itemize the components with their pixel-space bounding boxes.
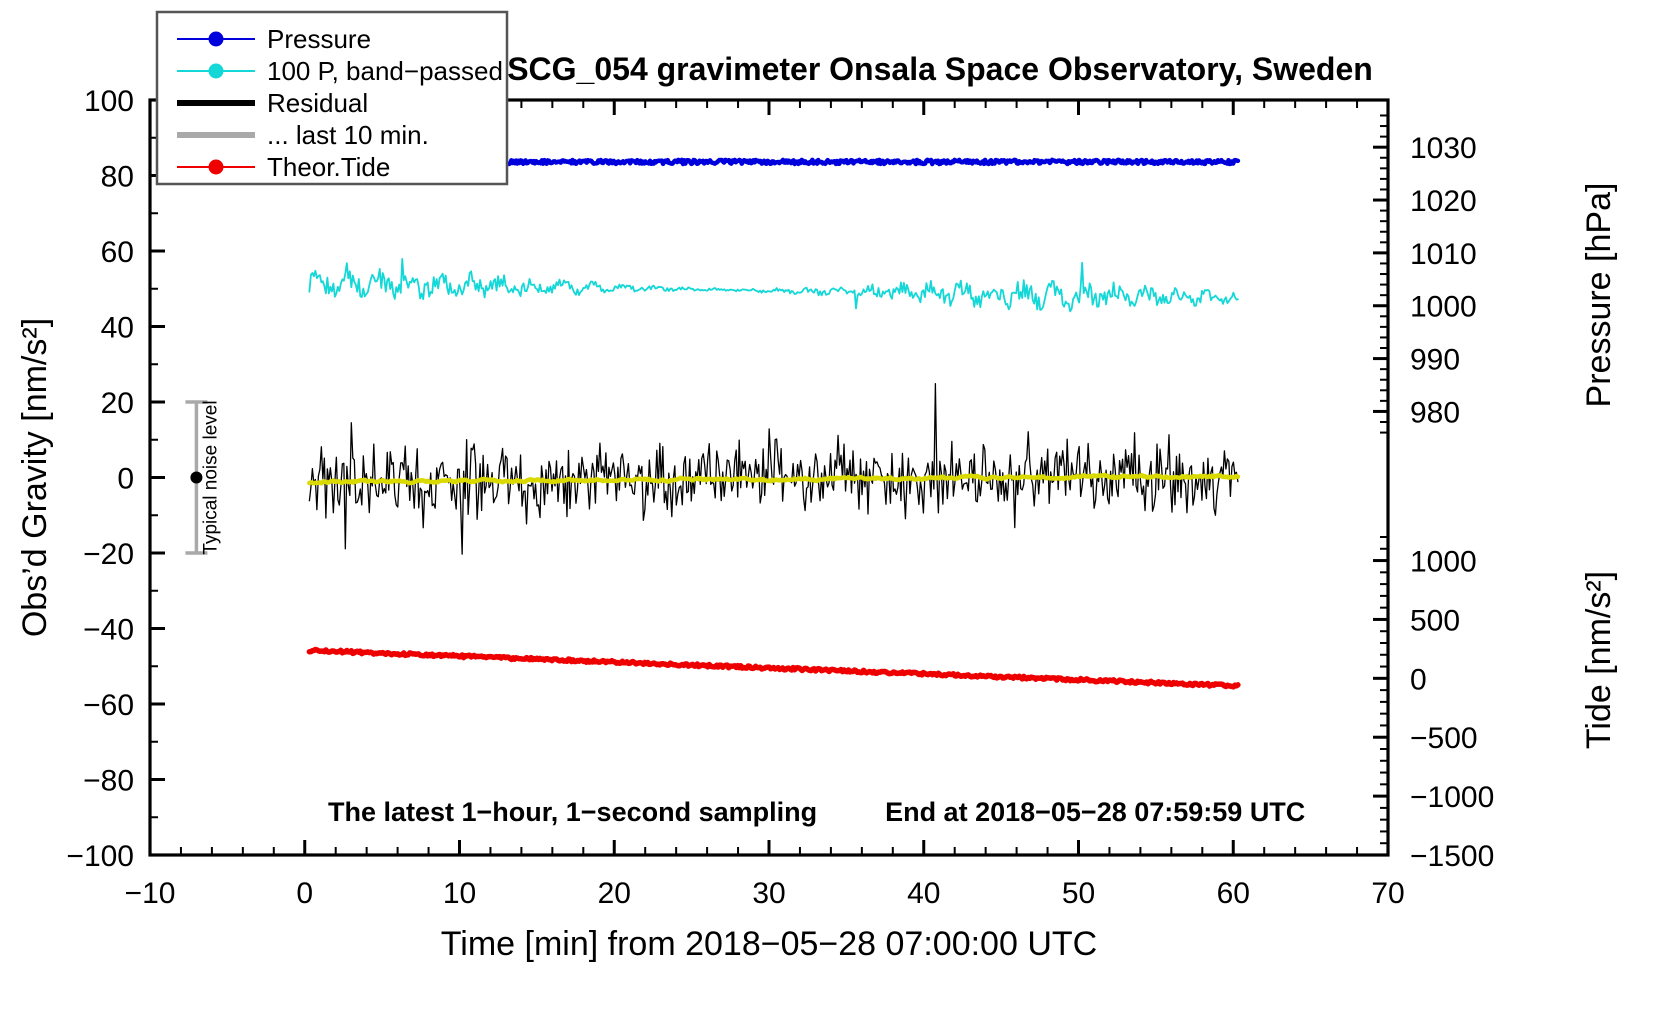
x-tick-label: 50 — [1062, 877, 1095, 910]
x-tick-label: 40 — [907, 877, 940, 910]
x-axis-title: Time [min] from 2018−05−28 07:00:00 UTC — [441, 925, 1097, 963]
legend-swatch-dot — [209, 160, 224, 175]
x-tick-label: 70 — [1371, 877, 1404, 910]
end-time-note: End at 2018−05−28 07:59:59 UTC — [885, 797, 1305, 827]
pressure-tick-label: 980 — [1410, 396, 1460, 429]
tide-tick-label: −1500 — [1410, 840, 1494, 873]
pressure-tick-label: 1030 — [1410, 132, 1477, 165]
y-tick-label: −80 — [83, 765, 134, 798]
latest-sampling-note: The latest 1−hour, 1−second sampling — [328, 797, 817, 827]
legend-swatch-dot — [209, 32, 224, 47]
y-tick-label: 100 — [84, 85, 134, 118]
pressure-tick-label: 990 — [1410, 344, 1460, 377]
y-tick-label: 80 — [101, 161, 134, 194]
y-tick-label: −40 — [83, 614, 134, 647]
x-tick-label: 20 — [598, 877, 631, 910]
chart-legend: Pressure100 P, band−passedResidual... la… — [157, 12, 507, 184]
tide-tick-label: 500 — [1410, 604, 1460, 637]
noise-level-label: Typical noise level — [200, 400, 221, 554]
legend-label: Theor.Tide — [267, 152, 390, 182]
y-axis-title: Obs’d Gravity [nm/s²] — [16, 318, 54, 637]
x-tick-label: 60 — [1217, 877, 1250, 910]
tide-tick-label: −500 — [1410, 722, 1478, 755]
y-tick-label: 0 — [117, 463, 134, 496]
x-tick-label: 30 — [752, 877, 785, 910]
y-tick-label: 60 — [101, 236, 134, 269]
chart-title: SCG_054 gravimeter Onsala Space Observat… — [507, 51, 1373, 87]
tide-axis-title: Tide [nm/s²] — [1580, 571, 1618, 749]
tide-tick-label: −1000 — [1410, 781, 1494, 814]
legend-swatch-dot — [209, 64, 224, 79]
tide-tick-label: 1000 — [1410, 546, 1477, 579]
y-tick-label: 20 — [101, 387, 134, 420]
y-tick-label: −20 — [83, 538, 134, 571]
x-tick-label: −10 — [125, 877, 176, 910]
legend-label: Pressure — [267, 24, 371, 54]
pressure-axis-title: Pressure [hPa] — [1580, 183, 1618, 408]
legend-label: Residual — [267, 88, 368, 118]
y-tick-label: −60 — [83, 689, 134, 722]
y-tick-label: −100 — [66, 840, 134, 873]
pressure-tick-label: 1000 — [1410, 291, 1477, 324]
y-tick-label: 40 — [101, 312, 134, 345]
legend-label: 100 P, band−passed — [267, 56, 503, 86]
pressure-tick-label: 1020 — [1410, 185, 1477, 218]
chart-page: −10010203040506070−100−80−60−40−20020406… — [0, 0, 1660, 1020]
x-tick-label: 10 — [443, 877, 476, 910]
gravimeter-chart: −10010203040506070−100−80−60−40−20020406… — [0, 0, 1660, 1020]
pressure-tick-label: 1010 — [1410, 238, 1477, 271]
x-tick-label: 0 — [296, 877, 313, 910]
legend-label: ... last 10 min. — [267, 120, 429, 150]
tide-tick-label: 0 — [1410, 663, 1427, 696]
series-pressure — [509, 160, 1238, 164]
